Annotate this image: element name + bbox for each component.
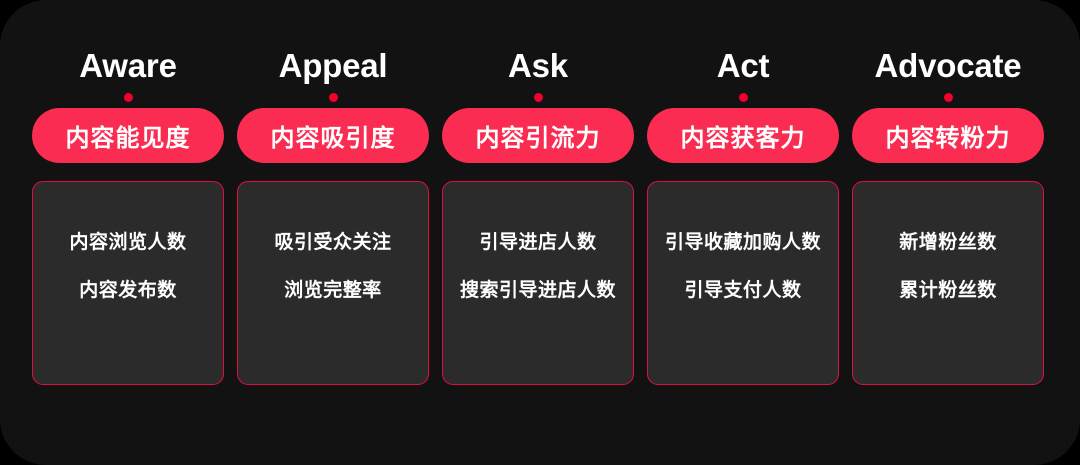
stage-pill-act[interactable]: 内容获客力 (647, 108, 839, 163)
metric-item: 引导收藏加购人数 (665, 230, 821, 256)
stage-pill-label: 内容获客力 (681, 118, 806, 153)
red-dot-icon (329, 93, 338, 102)
stage-pill-appeal[interactable]: 内容吸引度 (237, 108, 429, 163)
metric-card-appeal: 吸引受众关注 浏览完整率 (237, 181, 429, 385)
red-dot-icon (944, 93, 953, 102)
stage-dot-wrap (852, 86, 1044, 108)
metric-item: 吸引受众关注 (274, 230, 391, 256)
stage-heading: Advocate (852, 46, 1044, 86)
stage-pill-advocate[interactable]: 内容转粉力 (852, 108, 1044, 163)
red-dot-icon (739, 93, 748, 102)
stage-column-aware: Aware 内容能见度 内容浏览人数 内容发布数 (32, 0, 224, 465)
stage-pill-ask[interactable]: 内容引流力 (442, 108, 634, 163)
stage-dot-wrap (32, 86, 224, 108)
stage-heading: Ask (442, 46, 634, 86)
stage-column-ask: Ask 内容引流力 引导进店人数 搜索引导进店人数 (442, 0, 634, 465)
metric-item: 新增粉丝数 (899, 230, 997, 256)
stage-heading: Act (647, 46, 839, 86)
metric-item: 引导支付人数 (684, 278, 801, 304)
metric-card-aware: 内容浏览人数 内容发布数 (32, 181, 224, 385)
metric-card-act: 引导收藏加购人数 引导支付人数 (647, 181, 839, 385)
metric-card-advocate: 新增粉丝数 累计粉丝数 (852, 181, 1044, 385)
stage-pill-aware[interactable]: 内容能见度 (32, 108, 224, 163)
stage-column-advocate: Advocate 内容转粉力 新增粉丝数 累计粉丝数 (852, 0, 1044, 465)
stage-dot-wrap (442, 86, 634, 108)
metric-item: 内容浏览人数 (69, 230, 186, 256)
stage-pill-label: 内容能见度 (66, 118, 191, 153)
metric-item: 累计粉丝数 (899, 278, 997, 304)
stage-pill-label: 内容转粉力 (886, 118, 1011, 153)
metric-item: 内容发布数 (79, 278, 177, 304)
red-dot-icon (534, 93, 543, 102)
stage-dot-wrap (237, 86, 429, 108)
funnel-panel: Aware 内容能见度 内容浏览人数 内容发布数 Appeal 内容吸引度 吸引… (0, 0, 1080, 465)
metric-item: 浏览完整率 (284, 278, 382, 304)
stage-dot-wrap (647, 86, 839, 108)
metric-card-ask: 引导进店人数 搜索引导进店人数 (442, 181, 634, 385)
stage-pill-label: 内容吸引度 (271, 118, 396, 153)
stage-column-act: Act 内容获客力 引导收藏加购人数 引导支付人数 (647, 0, 839, 465)
stage-pill-label: 内容引流力 (476, 118, 601, 153)
metric-item: 搜索引导进店人数 (460, 278, 616, 304)
red-dot-icon (124, 93, 133, 102)
stage-heading: Appeal (237, 46, 429, 86)
stage-column-appeal: Appeal 内容吸引度 吸引受众关注 浏览完整率 (237, 0, 429, 465)
stage-columns: Aware 内容能见度 内容浏览人数 内容发布数 Appeal 内容吸引度 吸引… (32, 0, 1044, 465)
stage-heading: Aware (32, 46, 224, 86)
metric-item: 引导进店人数 (479, 230, 596, 256)
